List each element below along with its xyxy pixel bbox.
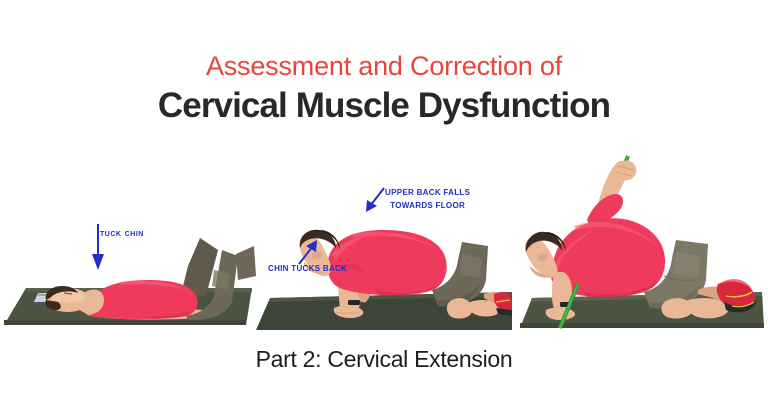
annotation-upper-back-line-2: TOWARDS FLOOR xyxy=(385,201,470,210)
chin-tucks-arrow-icon xyxy=(296,238,320,266)
upper-back-arrow-icon xyxy=(363,186,387,214)
annotation-chin-tucks-back: CHIN TUCKS BACK xyxy=(268,264,347,273)
panel-quadruped-dowel-reach xyxy=(512,150,768,330)
panel-supine-chin-tuck xyxy=(0,150,256,330)
annotation-upper-back-falls: UPPER BACK FALLS TOWARDS FLOOR xyxy=(385,188,470,210)
quadruped-dowel-reach-photo xyxy=(512,150,768,330)
title-block: Assessment and Correction of Cervical Mu… xyxy=(0,50,768,128)
page-title: Cervical Muscle Dysfunction xyxy=(0,84,768,128)
annotation-tuck-chin: Tuck Chin xyxy=(100,228,144,239)
annotation-upper-back-line-1: UPPER BACK FALLS xyxy=(385,188,470,197)
slide-canvas: Assessment and Correction of Cervical Mu… xyxy=(0,0,768,402)
quadruped-chin-tuck-photo xyxy=(256,150,512,330)
caption-block: Part 2: Cervical Extension xyxy=(0,345,768,373)
panel-quadruped-chin-tuck xyxy=(256,150,512,330)
title-kicker: Assessment and Correction of xyxy=(0,50,768,82)
supine-chin-tuck-photo xyxy=(0,150,256,330)
slide-caption: Part 2: Cervical Extension xyxy=(0,345,768,373)
